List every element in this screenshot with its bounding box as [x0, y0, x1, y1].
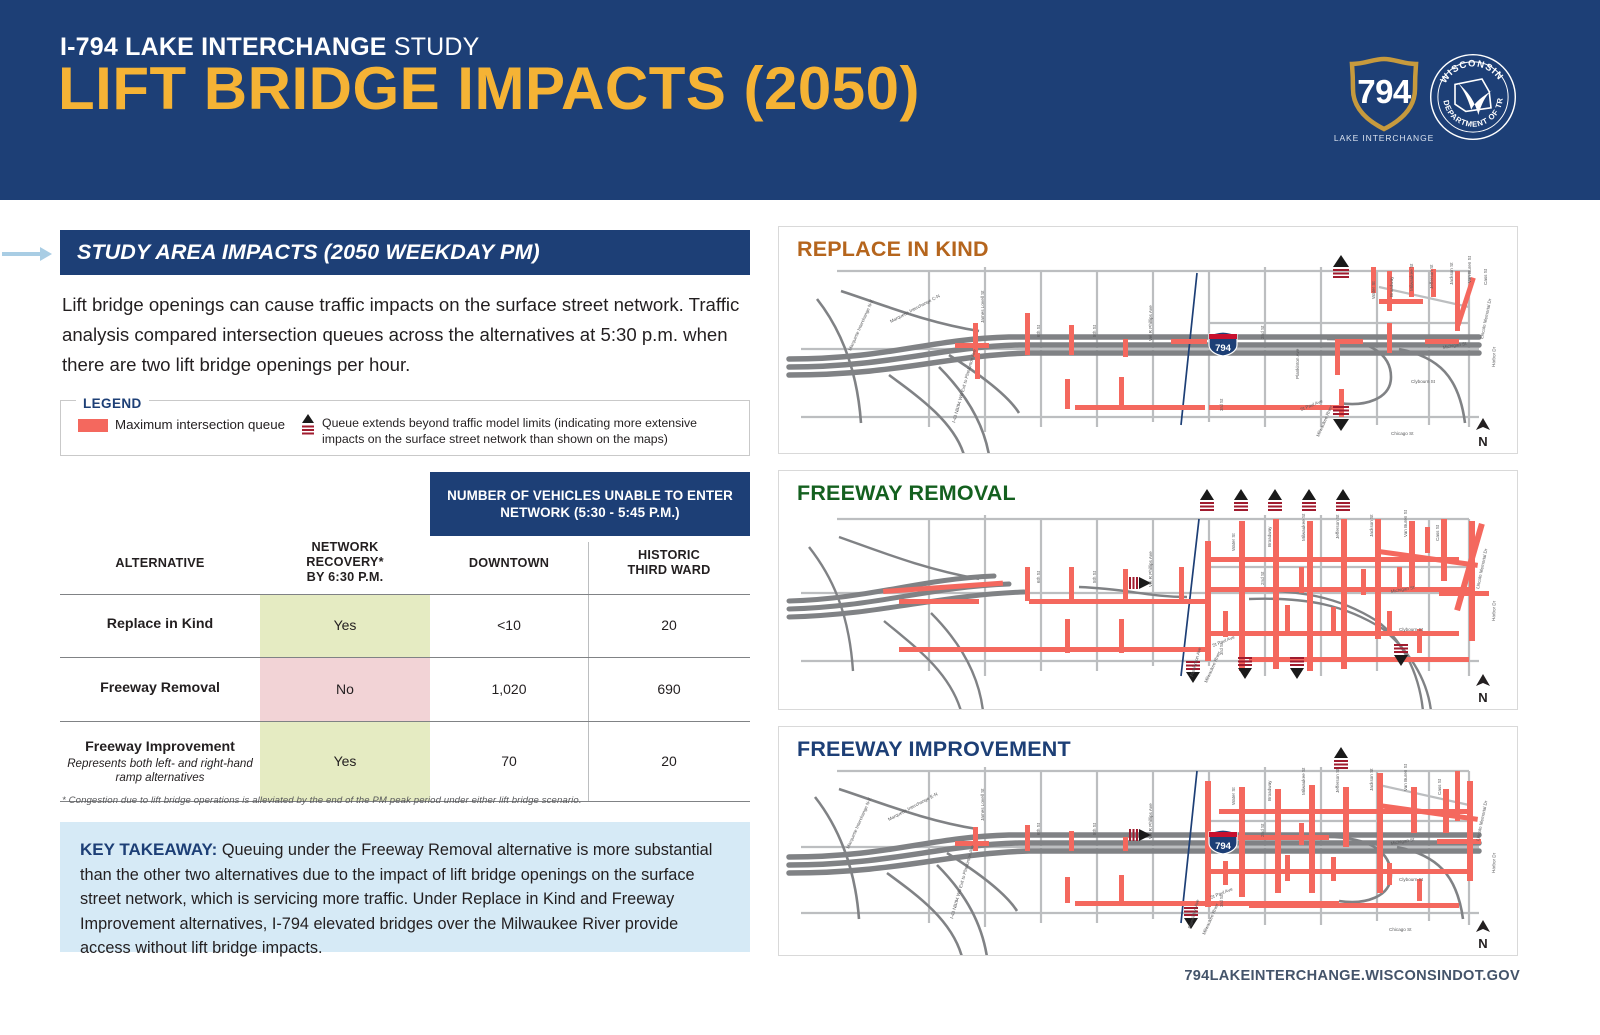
key-takeaway-box: KEY TAKEAWAY: Queuing under the Freeway … [60, 822, 750, 952]
table-row: Freeway Improvement Represents both left… [60, 721, 750, 801]
site-url[interactable]: 794LAKEINTERCHANGE.WISCONSINDOT.GOV [1184, 968, 1520, 984]
page-title: LIFT BRIDGE IMPACTS (2050) [58, 62, 958, 115]
svg-text:Cass St: Cass St [1435, 524, 1440, 541]
map-card-freeway-removal[interactable]: 6th St 5th St Vel R Phillips Ave 2nd St … [778, 470, 1518, 710]
north-arrow-icon [1475, 920, 1491, 933]
cell-historic-third-ward: 20 [588, 753, 750, 769]
svg-text:Water St: Water St [1371, 281, 1376, 299]
svg-text:Vel R Phillips Ave: Vel R Phillips Ave [1148, 551, 1153, 587]
svg-text:Vel R Phillips Ave: Vel R Phillips Ave [1148, 305, 1153, 341]
queue-overflow-arrow-icon [301, 414, 315, 436]
svg-text:2nd St: 2nd St [1260, 571, 1265, 585]
col-header-network-recovery: NETWORK RECOVERY* BY 6:30 P.M. [260, 540, 430, 585]
section-header-study-area-impacts: STUDY AREA IMPACTS (2050 WEEKDAY PM) [60, 230, 750, 275]
north-arrow-map1: N [1473, 418, 1493, 447]
svg-text:Milwaukee River: Milwaukee River [1201, 902, 1219, 935]
svg-text:Lincoln Memorial Dr: Lincoln Memorial Dr [1475, 548, 1488, 589]
north-label: N [1473, 436, 1493, 447]
col-header-historic-line1: HISTORIC [638, 548, 700, 562]
north-label: N [1473, 692, 1493, 703]
svg-text:Broadway: Broadway [1267, 526, 1272, 547]
svg-text:Clybourn St: Clybourn St [1399, 877, 1424, 882]
cell-network-recovery: Yes [260, 617, 430, 633]
map-freeway-removal: 6th St 5th St Vel R Phillips Ave 2nd St … [779, 471, 1518, 710]
svg-text:Vel R Phillips Ave: Vel R Phillips Ave [1148, 803, 1153, 839]
col-header-network-line1: NETWORK [312, 540, 379, 554]
svg-text:Jefferson St: Jefferson St [1335, 768, 1340, 793]
svg-text:Jackson St: Jackson St [1369, 514, 1374, 537]
col-header-downtown: DOWNTOWN [430, 556, 588, 571]
col-header-historic-line2: THIRD WARD [627, 563, 710, 577]
interstate-794-shield-icon: 794 [1204, 331, 1242, 357]
svg-text:Van Buren St: Van Buren St [1403, 509, 1408, 537]
queue-overflow-marker [1333, 406, 1349, 431]
cell-network-recovery: Yes [260, 753, 430, 769]
north-arrow-map3: N [1473, 920, 1493, 949]
legend-label-queue-overflow: Queue extends beyond traffic model limit… [322, 416, 732, 447]
pointer-arrow-icon [2, 246, 54, 262]
svg-text:Water St: Water St [1231, 533, 1236, 551]
map-card-replace-in-kind[interactable]: Marquette Interchange N-E Marquette Inte… [778, 226, 1518, 454]
svg-text:Cass St: Cass St [1483, 268, 1488, 285]
cell-downtown: 70 [430, 753, 588, 769]
table-row: Freeway Removal No 1,020 690 [60, 657, 750, 721]
table-group-header-vehicles: NUMBER OF VEHICLES UNABLE TO ENTER NETWO… [430, 472, 750, 536]
queue-overflow-marker [1334, 747, 1348, 769]
table-row: Replace in Kind Yes <10 20 [60, 594, 750, 657]
cell-alternative-note: Represents both left- and right-hand ram… [60, 757, 260, 785]
cell-historic-third-ward: 690 [588, 681, 750, 697]
svg-text:Milwaukee St: Milwaukee St [1409, 263, 1414, 291]
cell-alternative: Replace in Kind [60, 616, 260, 632]
north-arrow-icon [1475, 418, 1491, 431]
svg-text:Milwaukee St: Milwaukee St [1301, 513, 1306, 541]
svg-text:Broadway: Broadway [1389, 276, 1394, 297]
col-header-network-line2: RECOVERY* [306, 555, 383, 569]
svg-text:Lincoln Memorial Dr: Lincoln Memorial Dr [1479, 298, 1492, 339]
map-card-freeway-improvement[interactable]: Marquette Interchange N-E Marquette Inte… [778, 726, 1518, 956]
svg-text:6th St: 6th St [1036, 822, 1041, 835]
svg-text:2nd St: 2nd St [1260, 325, 1265, 339]
svg-text:James Lovell St: James Lovell St [980, 290, 985, 323]
logo-794-number: 794 [1340, 73, 1428, 111]
map-title-replace-in-kind: REPLACE IN KIND [797, 237, 989, 262]
logo-794-subtitle: LAKE INTERCHANGE [1332, 133, 1436, 143]
svg-text:Harbor Dr: Harbor Dr [1491, 346, 1497, 367]
north-label: N [1473, 938, 1493, 949]
svg-text:5th St: 5th St [1092, 324, 1097, 337]
cell-alternative-name: Freeway Improvement [85, 739, 235, 755]
cell-downtown: <10 [430, 617, 588, 633]
svg-text:5th St: 5th St [1092, 570, 1097, 583]
cell-historic-third-ward: 20 [588, 617, 750, 633]
wisdot-logo-icon: WISCONSIN DEPARTMENT OF TRANSPORTATION [1428, 52, 1518, 142]
cell-network-recovery: No [260, 681, 430, 697]
svg-text:Plankinton Ave: Plankinton Ave [1295, 348, 1300, 379]
col-header-network-line3: BY 6:30 P.M. [307, 570, 384, 584]
svg-text:794: 794 [1215, 343, 1232, 354]
svg-text:Water St: Water St [1231, 787, 1236, 805]
svg-text:3rd St: 3rd St [1219, 398, 1224, 411]
svg-text:Broadway: Broadway [1267, 780, 1272, 801]
logo-794: 794 LAKE INTERCHANGE [1340, 55, 1428, 137]
svg-text:Cass St: Cass St [1437, 778, 1442, 795]
cell-alternative: Freeway Improvement Represents both left… [60, 739, 260, 785]
svg-text:Van Buren St: Van Buren St [1467, 255, 1472, 283]
svg-text:6th St: 6th St [1036, 324, 1041, 337]
svg-text:Clybourn St: Clybourn St [1399, 627, 1424, 632]
cell-alternative: Freeway Removal [60, 680, 260, 696]
key-takeaway-label: KEY TAKEAWAY: [80, 840, 217, 859]
map-title-freeway-removal: FREEWAY REMOVAL [797, 481, 1016, 506]
north-arrow-icon [1475, 674, 1491, 687]
map-title-freeway-improvement: FREEWAY IMPROVEMENT [797, 737, 1071, 762]
col-header-alternative: ALTERNATIVE [60, 556, 260, 571]
north-arrow-map2: N [1473, 674, 1493, 703]
table-column-headers: ALTERNATIVE NETWORK RECOVERY* BY 6:30 P.… [60, 536, 750, 594]
svg-text:5th St: 5th St [1092, 822, 1097, 835]
svg-text:Jefferson St: Jefferson St [1429, 264, 1434, 289]
svg-text:Chicago St: Chicago St [1389, 927, 1412, 932]
intro-paragraph: Lift bridge openings can cause traffic i… [62, 290, 772, 380]
svg-text:Jackson St: Jackson St [1369, 768, 1374, 791]
svg-text:Marquette Interchange N-E: Marquette Interchange N-E [845, 797, 872, 850]
svg-text:Van Buren St: Van Buren St [1403, 763, 1408, 791]
svg-text:Jackson St: Jackson St [1449, 262, 1454, 285]
svg-text:Harbor Dr: Harbor Dr [1491, 600, 1497, 621]
legend-title: LEGEND [76, 396, 149, 411]
interstate-794-shield-icon: 794 [1204, 829, 1242, 855]
svg-text:Milwaukee St: Milwaukee St [1301, 767, 1306, 795]
infographic-page: I-794 LAKE INTERCHANGE STUDY LIFT BRIDGE… [0, 0, 1600, 1035]
queue-overflow-marker [1333, 255, 1349, 278]
legend-swatch-max-queue [78, 419, 108, 432]
svg-text:Chicago St: Chicago St [1391, 431, 1414, 436]
svg-text:James Lovell St: James Lovell St [980, 788, 985, 821]
svg-text:6th St: 6th St [1036, 570, 1041, 583]
col-header-historic-third-ward: HISTORIC THIRD WARD [588, 548, 750, 578]
table-footnote: * Congestion due to lift bridge operatio… [62, 795, 742, 806]
svg-text:Clybourn St: Clybourn St [1411, 379, 1436, 384]
svg-text:2nd St: 2nd St [1260, 823, 1265, 837]
svg-text:Harbor Dr: Harbor Dr [1491, 852, 1497, 873]
svg-text:Marquette Interchange N-E: Marquette Interchange N-E [847, 299, 874, 352]
svg-text:Jefferson St: Jefferson St [1335, 514, 1340, 539]
cell-downtown: 1,020 [430, 681, 588, 697]
svg-text:794: 794 [1215, 841, 1232, 852]
legend-label-max-queue: Maximum intersection queue [115, 417, 285, 432]
page-header: I-794 LAKE INTERCHANGE STUDY LIFT BRIDGE… [0, 0, 1600, 200]
queue-overflow-marker-row [1200, 489, 1350, 511]
